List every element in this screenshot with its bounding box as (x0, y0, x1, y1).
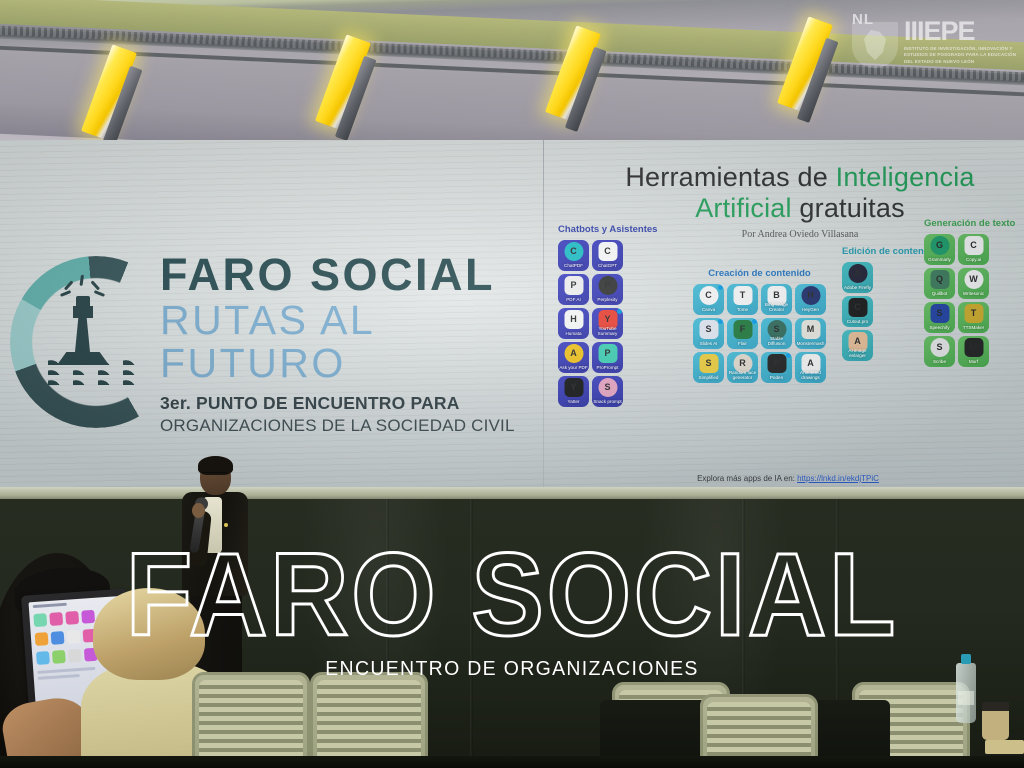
app-label: Snack prompt (593, 400, 623, 407)
app-label: Flair (728, 342, 758, 349)
app-badge (786, 353, 791, 358)
paper-sheet (985, 740, 1024, 754)
watermark-acronym: IIIEPE (904, 16, 975, 47)
app-label: ChatPDF (559, 264, 589, 271)
app-label: Murf (959, 360, 989, 367)
app-label: ProPrompt (593, 366, 623, 373)
app-label: AI image enlarger (843, 349, 873, 361)
app-badge (718, 319, 723, 324)
app-label: PDF AI (559, 298, 589, 305)
app-label: Bing Image Creator (762, 303, 792, 315)
app-label: Cutout.pro (843, 320, 873, 327)
app-label: Quillbot (925, 292, 955, 299)
page-title: FARO SOCIAL (41, 540, 983, 651)
app-badge (718, 285, 723, 290)
app-badge (752, 319, 757, 324)
app-label: Writesonic (959, 292, 989, 299)
app-label: Scribe (925, 360, 955, 367)
app-label: Speechify (925, 326, 955, 333)
app-label: Perplexity (593, 298, 623, 305)
app-label: Tome (728, 308, 758, 315)
app-label: YouTube Summary (593, 327, 623, 339)
app-label: Yatter (559, 400, 589, 407)
iiiepe-watermark: NL IIIEPE INSTITUTO DE INVESTIGACIÓN, IN… (852, 6, 1020, 68)
chair (192, 672, 310, 768)
app-label: Copy.ai (959, 258, 989, 265)
overlay-title-block: FARO SOCIAL ENCUENTRO DE ORGANIZACIONES (0, 540, 1024, 681)
app-label: Poden (762, 376, 792, 383)
app-label: Stable Diffusion (762, 337, 792, 349)
screenshot-stage: FARO SOCIAL RUTAS AL FUTURO 3er. PUNTO D… (0, 0, 1024, 768)
app-label: Adobe Firefly (843, 286, 873, 293)
chair (310, 672, 428, 768)
coffee-cup (982, 702, 1009, 740)
app-label: Simplified (694, 376, 724, 383)
app-badge (617, 309, 622, 314)
app-label: Canva (694, 308, 724, 315)
app-label: Ask your PDF (559, 366, 589, 373)
app-label: Slides AI (694, 342, 724, 349)
screen-vignette (0, 140, 1024, 487)
projection-screen: FARO SOCIAL RUTAS AL FUTURO 3er. PUNTO D… (0, 140, 1024, 487)
app-label: Grammarly (925, 258, 955, 265)
page-subtitle: ENCUENTRO DE ORGANIZACIONES (26, 657, 999, 681)
watermark-tagline: INSTITUTO DE INVESTIGACIÓN, INNOVACIÓN Y… (904, 46, 1020, 65)
lion-crest-icon (852, 22, 898, 68)
app-label: Random face generator (728, 371, 758, 383)
floor (0, 756, 1024, 768)
app-label: TTSMaker (959, 326, 989, 333)
app-label: ChatGPT (593, 264, 623, 271)
app-label: Humata (559, 332, 589, 339)
app-label: HeyGen (796, 308, 826, 315)
app-label: Monstermash (796, 342, 826, 349)
app-label: Annotated drawings (796, 371, 826, 383)
